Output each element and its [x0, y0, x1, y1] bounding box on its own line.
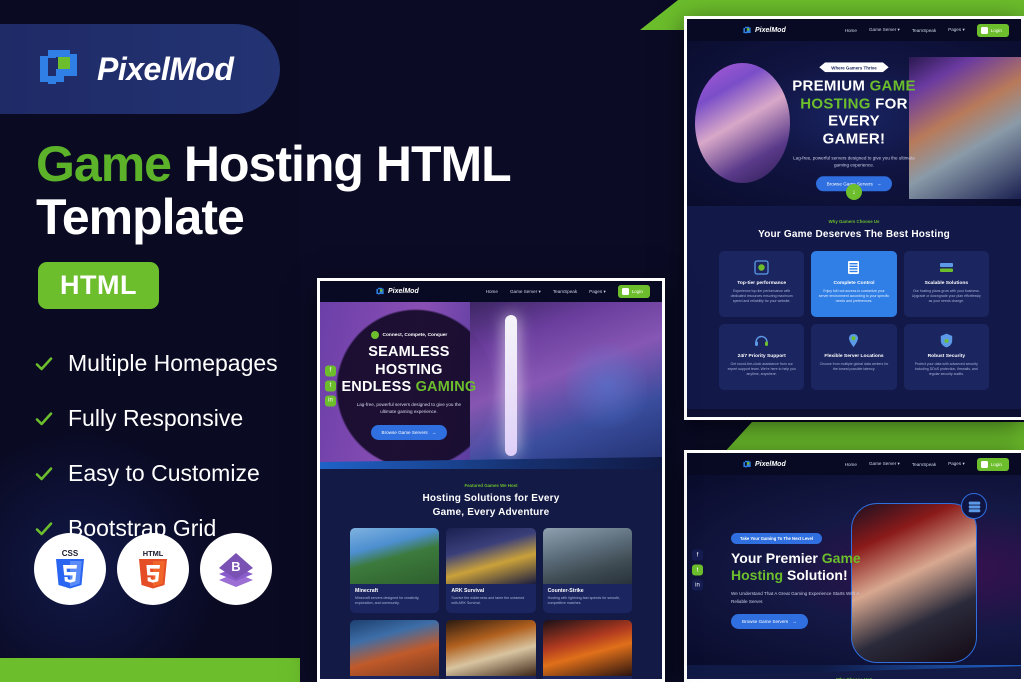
user-login-icon [981, 27, 988, 34]
screen-center: PixelMod Home Game Server ▾ TeamSpeak Pa… [320, 281, 662, 679]
nav-brand-name: PixelMod [755, 27, 786, 34]
why-eyebrow: Why Gamers Choose Us [697, 219, 1011, 224]
nav-brand[interactable]: PixelMod [743, 460, 786, 469]
linkedin-icon[interactable]: in [325, 395, 336, 406]
feature-description: Get round-the-clock assistance from our … [726, 362, 797, 378]
headset-support-icon [753, 332, 770, 349]
server-stack-icon [961, 493, 987, 519]
title-part-3: HOSTING [800, 95, 870, 112]
game-description: Minecraft servers designed for creativit… [355, 596, 434, 607]
game-card-grid: Minecraft Minecraft servers designed for… [332, 528, 650, 613]
hero-ribbon-badge: Where Gamers Thrive [819, 62, 888, 72]
pixel-p-logo-icon [38, 46, 84, 92]
title-part-1: Your Premier [731, 550, 822, 566]
nav-link-pages[interactable]: Pages ▾ [948, 27, 965, 33]
promo-banner: PixelMod Game Hosting HTML Template HTML… [0, 0, 1024, 682]
site-navbar: PixelMod Home Game Server ▾ TeamSpeak Pa… [320, 281, 662, 302]
why-title: Your Game Deserves The Best Hosting [697, 228, 1011, 242]
mockup-top-right[interactable]: PixelMod Home Game Server ▾ TeamSpeak Pa… [684, 16, 1024, 420]
hero-badge-label: Connect, Compete, Conquer [383, 333, 448, 338]
promo-headline: Game Hosting HTML Template [36, 138, 576, 244]
game-card[interactable]: Apex Legends Low-latency hosting for fas… [543, 620, 632, 679]
css3-badge: CSS [34, 533, 106, 605]
hero-title-line2-plain: ENDLESS [341, 379, 415, 395]
feature-label: Multiple Homepages [68, 350, 278, 377]
feature-description: Our hosting plans grow with your busines… [911, 289, 982, 305]
linkedin-icon[interactable]: in [692, 580, 703, 591]
feature-name: Scalable Solutions [911, 281, 982, 286]
game-card-body: Counter-Strike Hosting with lightning-fa… [543, 584, 632, 613]
nav-links: Home Game Server ▾ TeamSpeak Pages ▾ Log… [486, 285, 650, 298]
twitter-icon[interactable]: t [325, 380, 336, 391]
nav-brand[interactable]: PixelMod [376, 287, 419, 296]
featured-title-line2: Game, Every Adventure [433, 507, 550, 518]
featured-title-line1: Hosting Solutions for Every [422, 493, 559, 504]
feature-card[interactable]: 24/7 Priority Support Get round-the-cloc… [719, 324, 804, 390]
hero-title-line2-accent: GAMING [416, 379, 477, 395]
nav-link-game-server[interactable]: Game Server ▾ [869, 27, 900, 33]
arrow-right-icon: → [792, 619, 797, 624]
hero-title: Your Premier Game Hosting Solution! [731, 550, 871, 584]
game-name: ARK Survival [451, 588, 530, 594]
browse-servers-button[interactable]: Browse Game Servers → [371, 425, 448, 440]
hero-pill-badge: Take Your Gaming To The Next Level [731, 533, 822, 544]
why-choose-section: Why Gamers Choose Us Your Game Deserves … [687, 206, 1021, 409]
game-thumbnail [446, 620, 535, 676]
hero-section-top-right: Where Gamers Thrive PREMIUM GAME HOSTING… [687, 41, 1021, 206]
chevron-down-icon: ▾ [898, 27, 900, 32]
game-card-body: League of Legends Reliable servers for s… [446, 676, 535, 679]
title-part-5: GAMER! [823, 130, 886, 147]
game-card[interactable]: ARK Survival Survive the wilderness and … [446, 528, 535, 613]
headline-rest: Hosting HTML [171, 136, 511, 192]
game-card[interactable]: League of Legends Reliable servers for s… [446, 620, 535, 679]
chevron-down-icon: ▾ [898, 461, 900, 466]
user-login-icon [981, 461, 988, 468]
nav-link-home[interactable]: Home [845, 28, 857, 33]
feature-card-grid-row2: 24/7 Priority Support Get round-the-cloc… [697, 324, 1011, 390]
pixel-p-logo-icon [376, 287, 385, 296]
title-part-4: Solution! [783, 567, 848, 583]
hero-content-bottom-right: Take Your Gaming To The Next Level Your … [731, 527, 871, 629]
hero-content-top-right: Where Gamers Thrive PREMIUM GAME HOSTING… [775, 56, 933, 191]
title-part-3: Hosting [731, 567, 783, 583]
tech-badge-group: CSS HTML [34, 533, 272, 605]
why-eyebrow: Why Choose Us? [697, 677, 1011, 679]
browse-servers-button[interactable]: Browse Game Servers → [731, 614, 808, 629]
screen-bottom-right: PixelMod Home Game Server ▾ TeamSpeak Pa… [687, 453, 1021, 679]
hero-paragraph: Lag-free, powerful servers designed to g… [790, 154, 918, 169]
feature-description: Protect your data with advanced security… [911, 362, 982, 378]
feature-card[interactable]: Top-tier performance Experience top-tier… [719, 251, 804, 317]
twitter-icon[interactable]: t [692, 565, 703, 576]
featured-title: Hosting Solutions for Every Game, Every … [332, 492, 650, 519]
hero-section-bottom-right: f t in Take Your Gaming To The Next Leve… [687, 475, 1021, 665]
scale-arrows-icon [938, 259, 955, 276]
feature-name: Top-tier performance [726, 281, 797, 286]
nav-link-pages[interactable]: Pages ▾ [589, 289, 606, 295]
game-card[interactable]: Counter-Strike Hosting with lightning-fa… [543, 528, 632, 613]
feature-card[interactable]: Scalable Solutions Our hosting plans gro… [904, 251, 989, 317]
chevron-down-icon: ▾ [603, 289, 605, 294]
nav-brand-name: PixelMod [388, 288, 419, 295]
pixel-p-logo-icon [743, 26, 752, 35]
scroll-down-icon[interactable]: ↓ [846, 184, 862, 200]
hero-title: SEAMLESS HOSTING ENDLESS GAMING [338, 344, 480, 395]
feature-name: 24/7 Priority Support [726, 354, 797, 359]
title-part-2: GAME [870, 77, 916, 94]
nav-link-game-server[interactable]: Game Server ▾ [869, 461, 900, 467]
arrow-right-icon: → [432, 430, 437, 435]
check-icon [34, 354, 54, 374]
html-tag-badge: HTML [38, 262, 159, 309]
bootstrap-icon: B [214, 549, 258, 589]
user-login-icon [622, 288, 629, 295]
nav-link-home[interactable]: Home [845, 462, 857, 467]
game-thumbnail [543, 620, 632, 676]
promo-left-panel: PixelMod Game Hosting HTML Template HTML… [0, 0, 300, 682]
nav-links: Home Game Server ▾ TeamSpeak Pages ▾ Log… [845, 458, 1009, 471]
facebook-icon[interactable]: f [692, 550, 703, 561]
login-label: Login [991, 462, 1002, 467]
login-button[interactable]: Login [977, 458, 1009, 471]
headline-accent-word: Game [36, 136, 171, 192]
chevron-down-icon: ▾ [962, 27, 964, 32]
svg-text:B: B [231, 559, 240, 574]
feature-name: Robust Security [911, 354, 982, 359]
map-pin-icon [845, 332, 862, 349]
nav-brand[interactable]: PixelMod [743, 26, 786, 35]
headline-line2: Template [36, 189, 244, 245]
game-card-body: Minecraft Minecraft servers designed for… [350, 584, 439, 613]
screen-top-right: PixelMod Home Game Server ▾ TeamSpeak Pa… [687, 19, 1021, 417]
hero-title-line1: SEAMLESS HOSTING [368, 344, 449, 377]
title-part-2: Game [822, 550, 861, 566]
server-rack-icon [845, 259, 862, 276]
html5-icon: HTML [133, 547, 173, 591]
feature-card-active[interactable]: Complete Control Enjoy full root access … [811, 251, 896, 317]
social-rail: f t in [325, 365, 336, 406]
featured-games-section: Featured Games We Host Hosting Solutions… [320, 469, 662, 679]
feature-card-grid: Top-tier performance Experience top-tier… [697, 251, 1011, 317]
facebook-icon[interactable]: f [325, 365, 336, 376]
login-button[interactable]: Login [977, 24, 1009, 37]
check-icon [34, 409, 54, 429]
mockup-bottom-right[interactable]: PixelMod Home Game Server ▾ TeamSpeak Pa… [684, 450, 1024, 682]
speed-chip-icon [753, 259, 770, 276]
site-navbar: PixelMod Home Game Server ▾ TeamSpeak Pa… [687, 453, 1021, 475]
browse-servers-label: Browse Game Servers [382, 430, 428, 435]
hero-paragraph: Lag-free, powerful servers designed to g… [353, 401, 465, 416]
game-description: Hosting with lightning-fast speeds for s… [548, 596, 627, 607]
game-thumbnail [446, 528, 535, 584]
hero-content-center: Connect, Compete, Conquer SEAMLESS HOSTI… [320, 302, 498, 469]
pixel-p-logo-icon [743, 460, 752, 469]
brand-logo-pill: PixelMod [0, 24, 280, 114]
feature-description: Enjoy full root access to customize your… [818, 289, 889, 305]
game-card-body: Fortnite Battle royale hosting built for… [350, 676, 439, 679]
brand-name: PixelMod [97, 51, 233, 88]
nav-link-teamspeak[interactable]: TeamSpeak [912, 28, 936, 33]
game-card-body: ARK Survival Survive the wilderness and … [446, 584, 535, 613]
feature-name: Complete Control [818, 281, 889, 286]
game-card-body: Apex Legends Low-latency hosting for fas… [543, 676, 632, 679]
login-label: Login [991, 28, 1002, 33]
site-navbar: PixelMod Home Game Server ▾ TeamSpeak Pa… [687, 19, 1021, 41]
game-thumbnail [543, 528, 632, 584]
game-thumbnail [350, 620, 439, 676]
feature-name: Flexible Server Locations [818, 354, 889, 359]
browse-servers-label: Browse Game Servers [742, 619, 788, 624]
nav-link-teamspeak[interactable]: TeamSpeak [912, 462, 936, 467]
game-card[interactable]: Minecraft Minecraft servers designed for… [350, 528, 439, 613]
feature-description: Choose from multiple global data centers… [818, 362, 889, 373]
chevron-down-icon: ▾ [539, 289, 541, 294]
hero-section-center: f t in Connect, Compete, Conquer SEAMLES… [320, 302, 662, 469]
game-card[interactable]: Fortnite Battle royale hosting built for… [350, 620, 439, 679]
game-thumbnail [350, 528, 439, 584]
nav-brand-name: PixelMod [755, 461, 786, 468]
svg-text:CSS: CSS [62, 549, 79, 558]
feature-label: Easy to Customize [68, 460, 260, 487]
login-button[interactable]: Login [618, 285, 650, 298]
why-choose-bottom-section: Why Choose Us? Great Gaming Experience S… [687, 665, 1021, 679]
mockup-center[interactable]: PixelMod Home Game Server ▾ TeamSpeak Pa… [317, 278, 665, 682]
nav-link-home[interactable]: Home [486, 289, 498, 294]
game-card-grid-row2: Fortnite Battle royale hosting built for… [332, 620, 650, 679]
feature-card[interactable]: Robust Security Protect your data with a… [904, 324, 989, 390]
game-description: Survive the wilderness and tame the unta… [451, 596, 530, 607]
list-item: Fully Responsive [34, 405, 334, 432]
nav-link-teamspeak[interactable]: TeamSpeak [553, 289, 577, 294]
list-item: Multiple Homepages [34, 350, 334, 377]
nav-link-pages[interactable]: Pages ▾ [948, 461, 965, 467]
svg-text:HTML: HTML [143, 549, 164, 558]
login-label: Login [632, 289, 643, 294]
list-item: Easy to Customize [34, 460, 334, 487]
feature-card[interactable]: Flexible Server Locations Choose from mu… [811, 324, 896, 390]
title-part-1: PREMIUM [792, 77, 869, 94]
hero-paragraph: We Understand That A Great Gaming Experi… [731, 590, 871, 605]
hero-photo-gamers [470, 302, 662, 469]
feature-label: Fully Responsive [68, 405, 243, 432]
featured-eyebrow: Featured Games We Host [332, 483, 650, 488]
game-name: Minecraft [355, 588, 434, 594]
css3-icon: CSS [50, 547, 90, 591]
chevron-down-icon: ▾ [962, 461, 964, 466]
feature-description: Experience top-tier performance with ded… [726, 289, 797, 305]
arrow-right-icon: → [877, 181, 882, 186]
game-name: Counter-Strike [548, 588, 627, 594]
badge-dot-icon [371, 331, 379, 339]
bootstrap-badge: B [200, 533, 272, 605]
nav-links: Home Game Server ▾ TeamSpeak Pages ▾ Log… [845, 24, 1009, 37]
check-icon [34, 464, 54, 484]
hero-title: PREMIUM GAME HOSTING FOR EVERY GAMER! [775, 77, 933, 148]
social-rail: f t in [692, 550, 703, 591]
html5-badge: HTML [117, 533, 189, 605]
nav-link-game-server[interactable]: Game Server ▾ [510, 289, 541, 295]
shield-lock-icon [938, 332, 955, 349]
hero-badge: Connect, Compete, Conquer [371, 331, 448, 339]
